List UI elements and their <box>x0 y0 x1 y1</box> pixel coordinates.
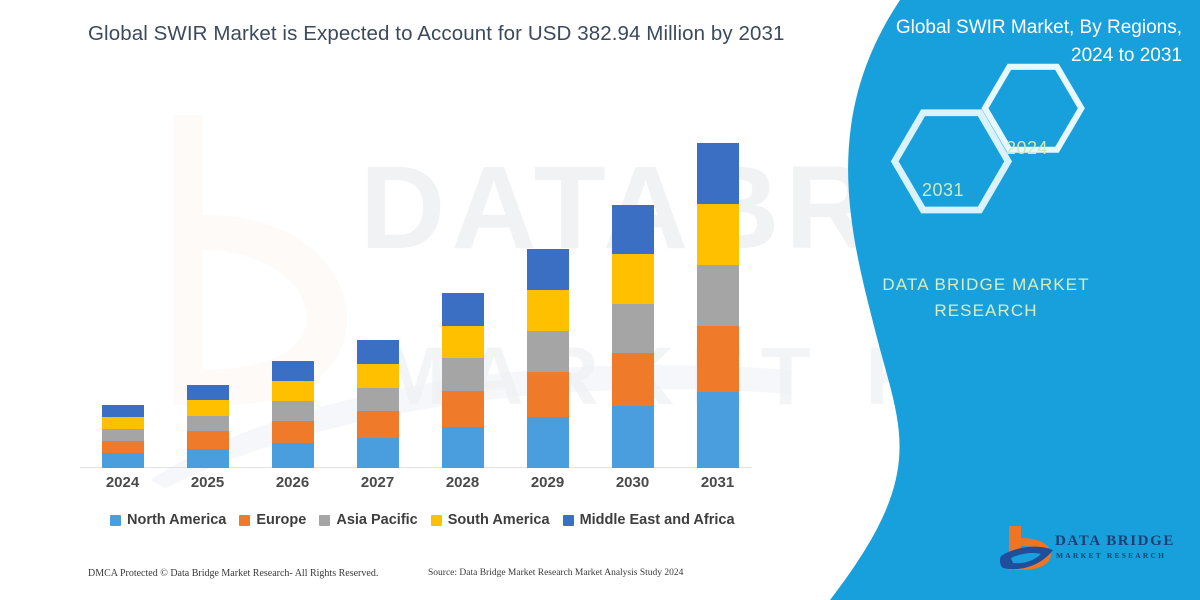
bar-segment-asia-pacific <box>357 388 399 412</box>
bar-2026 <box>272 361 314 468</box>
bar-segment-asia-pacific <box>442 358 484 391</box>
bar-segment-south-america <box>272 381 314 401</box>
bar-segment-north-america <box>612 406 654 468</box>
legend-item-middle-east-and-africa[interactable]: Middle East and Africa <box>563 512 735 528</box>
bar-segment-middle-east-and-africa <box>357 340 399 364</box>
legend-item-south-america[interactable]: South America <box>431 512 550 528</box>
panel-brand-line1: DATA BRIDGE MARKET <box>882 275 1089 294</box>
legend-label: South America <box>448 512 550 528</box>
logo-text-secondary: MARKET RESEARCH <box>1056 551 1166 560</box>
bar-2029 <box>527 249 569 468</box>
stacked-bar-chart <box>80 130 760 468</box>
bar-segment-north-america <box>102 453 144 468</box>
legend-swatch-icon <box>239 515 250 526</box>
bar-segment-europe <box>357 411 399 437</box>
legend-label: Europe <box>256 512 306 528</box>
bar-segment-middle-east-and-africa <box>272 361 314 381</box>
bar-segment-south-america <box>527 290 569 331</box>
bar-segment-asia-pacific <box>272 401 314 421</box>
x-axis-labels: 20242025202620272028202920302031 <box>80 474 760 500</box>
bar-segment-europe <box>442 391 484 427</box>
footer-dmca-notice: DMCA Protected © Data Bridge Market Rese… <box>88 568 378 579</box>
bar-segment-north-america <box>697 392 739 468</box>
panel-brand-line2: RESEARCH <box>934 301 1037 320</box>
bar-segment-middle-east-and-africa <box>612 205 654 254</box>
legend-swatch-icon <box>431 515 442 526</box>
legend-swatch-icon <box>110 515 121 526</box>
legend-swatch-icon <box>319 515 330 526</box>
page-title: Global SWIR Market is Expected to Accoun… <box>88 22 788 46</box>
bar-segment-middle-east-and-africa <box>102 405 144 417</box>
bar-segment-south-america <box>357 364 399 388</box>
bar-segment-middle-east-and-africa <box>187 385 229 401</box>
bar-segment-north-america <box>527 417 569 468</box>
bar-2027 <box>357 340 399 468</box>
bar-segment-europe <box>272 421 314 443</box>
bar-segment-south-america <box>187 400 229 416</box>
bar-segment-europe <box>187 431 229 448</box>
bar-segment-middle-east-and-africa <box>442 293 484 326</box>
bar-segment-north-america <box>357 438 399 468</box>
bar-2028 <box>442 293 484 468</box>
bar-segment-north-america <box>187 449 229 468</box>
bar-2031 <box>697 143 739 468</box>
bar-segment-europe <box>612 353 654 406</box>
infographic-canvas: DATABRIDGE MARKET RESEARCH Global SWIR M… <box>0 0 1200 600</box>
hexagon-label-2024: 2024 <box>1006 138 1048 159</box>
legend-swatch-icon <box>563 515 574 526</box>
bar-2024 <box>102 405 144 468</box>
panel-brand-text: DATA BRIDGE MARKET RESEARCH <box>826 272 1146 325</box>
bar-segment-asia-pacific <box>697 265 739 326</box>
x-axis-label-2031: 2031 <box>678 474 758 491</box>
x-axis-label-2027: 2027 <box>338 474 418 491</box>
bar-segment-europe <box>697 326 739 392</box>
x-axis-label-2026: 2026 <box>253 474 333 491</box>
bar-segment-south-america <box>697 204 739 265</box>
panel-content: Global SWIR Market, By Regions, 2024 to … <box>780 0 1200 600</box>
bar-segment-asia-pacific <box>527 331 569 372</box>
hexagon-label-2031: 2031 <box>922 180 964 201</box>
x-axis-label-2029: 2029 <box>508 474 588 491</box>
bar-2025 <box>187 385 229 468</box>
bar-segment-asia-pacific <box>612 304 654 353</box>
legend-label: Asia Pacific <box>336 512 417 528</box>
bar-segment-south-america <box>442 326 484 359</box>
x-axis-label-2024: 2024 <box>83 474 163 491</box>
bar-segment-north-america <box>442 427 484 468</box>
legend-label: North America <box>127 512 226 528</box>
bar-segment-europe <box>102 441 144 454</box>
legend-label: Middle East and Africa <box>580 512 735 528</box>
x-axis-label-2028: 2028 <box>423 474 503 491</box>
bar-segment-middle-east-and-africa <box>527 249 569 290</box>
bar-segment-asia-pacific <box>187 416 229 432</box>
legend-item-asia-pacific[interactable]: Asia Pacific <box>319 512 417 528</box>
logo-text-primary: DATA BRIDGE <box>1055 533 1175 550</box>
bar-segment-south-america <box>612 254 654 303</box>
chart-legend: North AmericaEuropeAsia PacificSouth Ame… <box>110 512 735 528</box>
bar-segment-south-america <box>102 417 144 429</box>
legend-item-north-america[interactable]: North America <box>110 512 226 528</box>
bar-segment-europe <box>527 372 569 417</box>
bar-segment-middle-east-and-africa <box>697 143 739 204</box>
bar-segment-asia-pacific <box>102 429 144 441</box>
bar-2030 <box>612 205 654 468</box>
x-axis-label-2025: 2025 <box>168 474 248 491</box>
footer-source-note: Source: Data Bridge Market Research Mark… <box>428 568 683 578</box>
x-axis-label-2030: 2030 <box>593 474 673 491</box>
bar-segment-north-america <box>272 443 314 468</box>
legend-item-europe[interactable]: Europe <box>239 512 306 528</box>
